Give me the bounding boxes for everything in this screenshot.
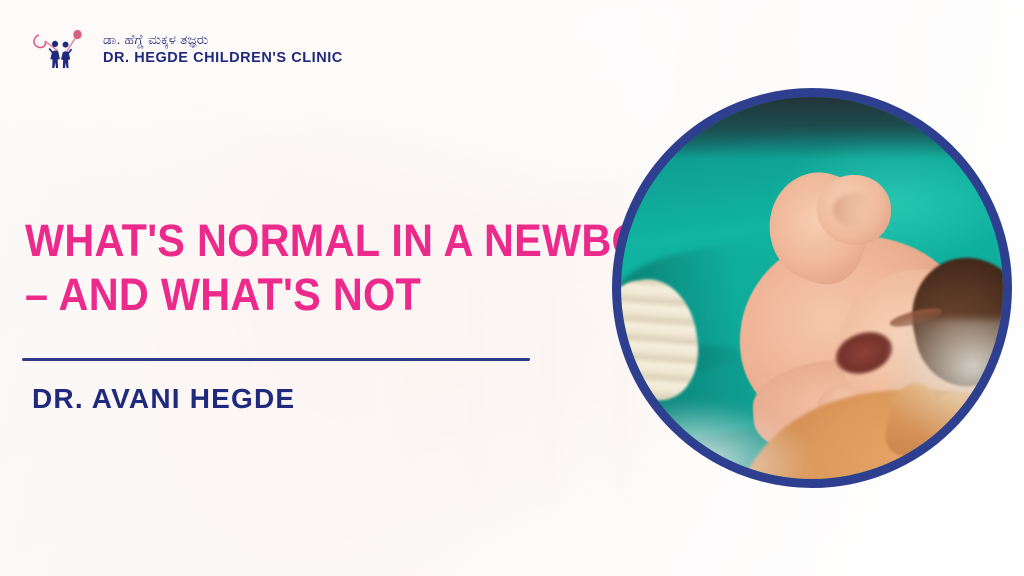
author-name: DR. AVANI HEGDE	[32, 380, 295, 418]
slide-title: WHAT'S NORMAL IN A NEWBORN – AND WHAT'S …	[25, 214, 559, 322]
clinic-logo: ಡಾ. ಹೆಗ್ಡೆ ಮಕ್ಕಳ ತಜ್ಞರು DR. HEGDE CHILDR…	[28, 24, 343, 74]
slide-title-line-2: – AND WHAT'S NOT	[25, 268, 559, 322]
clinic-name-english: DR. HEGDE CHILDREN'S CLINIC	[103, 49, 343, 67]
title-divider-rule	[22, 358, 530, 361]
newborn-photo-circle-frame	[612, 88, 1012, 488]
baby-fist	[817, 175, 891, 245]
clinic-name-kannada: ಡಾ. ಹೆಗ್ಡೆ ಮಕ್ಕಳ ತಜ್ಞರು	[103, 31, 343, 48]
newborn-photo	[621, 97, 1003, 479]
photo-bottom-highlight	[621, 401, 811, 479]
headline-block: WHAT'S NORMAL IN A NEWBORN – AND WHAT'S …	[25, 214, 605, 322]
slide-title-line-1: WHAT'S NORMAL IN A NEWBORN	[25, 214, 559, 268]
photo-edge-highlight	[889, 319, 1003, 439]
presentation-slide: ಡಾ. ಹೆಗ್ಡೆ ಮಕ್ಕಳ ತಜ್ಞರು DR. HEGDE CHILDR…	[0, 0, 1024, 576]
two-children-stethoscope-balloon-icon	[28, 24, 94, 74]
clinic-logo-text: ಡಾ. ಹೆಗ್ಡೆ ಮಕ್ಕಳ ತಜ್ಞರು DR. HEGDE CHILDR…	[103, 31, 343, 67]
